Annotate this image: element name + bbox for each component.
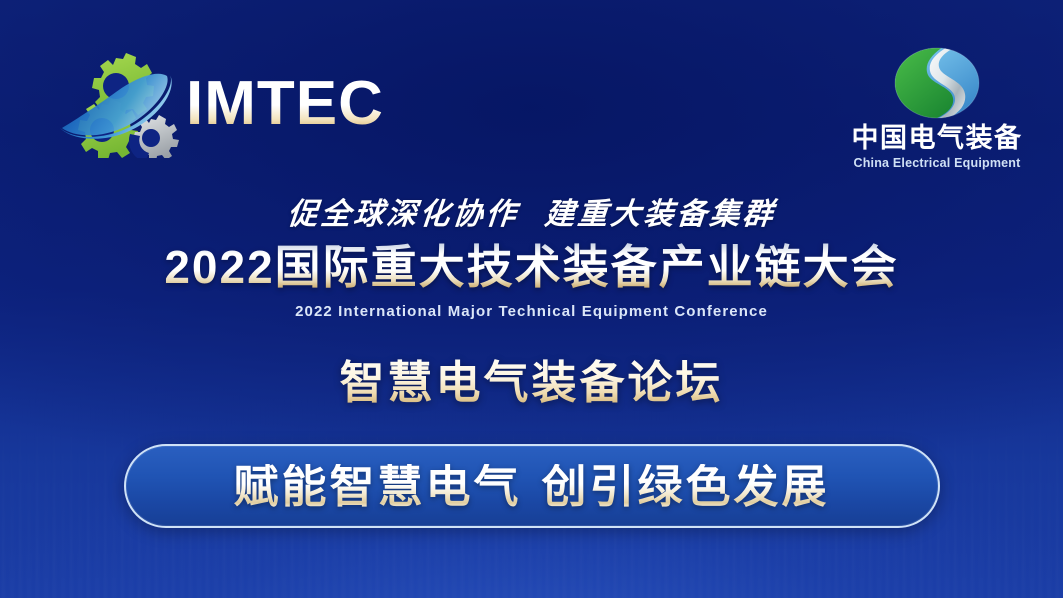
forum-title: 智慧电气装备论坛 bbox=[0, 356, 1063, 410]
conference-title-cn: 2022国际重大技术装备产业链大会 bbox=[0, 240, 1063, 294]
conference-banner: IMTEC bbox=[0, 0, 1063, 598]
imtec-wordmark: IMTEC bbox=[186, 73, 384, 135]
china-electrical-equipment-logo: 中国电气装备 China Electrical Equipment bbox=[847, 46, 1027, 170]
conference-title-en: 2022 International Major Technical Equip… bbox=[0, 303, 1063, 320]
pill-slogan-container: 赋能智慧电气创引绿色发展 bbox=[124, 444, 940, 528]
pill-slogan-right: 创引绿色发展 bbox=[542, 461, 830, 512]
calligraphy-slogan: 促全球深化协作建重大装备集群 bbox=[0, 196, 1063, 234]
calligraphy-slogan-right: 建重大装备集群 bbox=[543, 197, 777, 232]
cee-english-name: China Electrical Equipment bbox=[847, 156, 1027, 170]
pill-slogan-wrap: 赋能智慧电气创引绿色发展 bbox=[0, 444, 1063, 528]
gears-swoosh-icon bbox=[58, 50, 184, 158]
cee-chinese-name: 中国电气装备 bbox=[847, 124, 1027, 154]
imtec-logo: IMTEC bbox=[58, 48, 388, 160]
center-content: 促全球深化协作建重大装备集群 2022国际重大技术装备产业链大会 2022 In… bbox=[0, 196, 1063, 410]
pill-slogan-text: 赋能智慧电气创引绿色发展 bbox=[233, 464, 829, 509]
calligraphy-slogan-left: 促全球深化协作 bbox=[286, 197, 520, 232]
green-blue-s-emblem-icon bbox=[881, 46, 993, 120]
pill-slogan-left: 赋能智慧电气 bbox=[233, 461, 521, 512]
